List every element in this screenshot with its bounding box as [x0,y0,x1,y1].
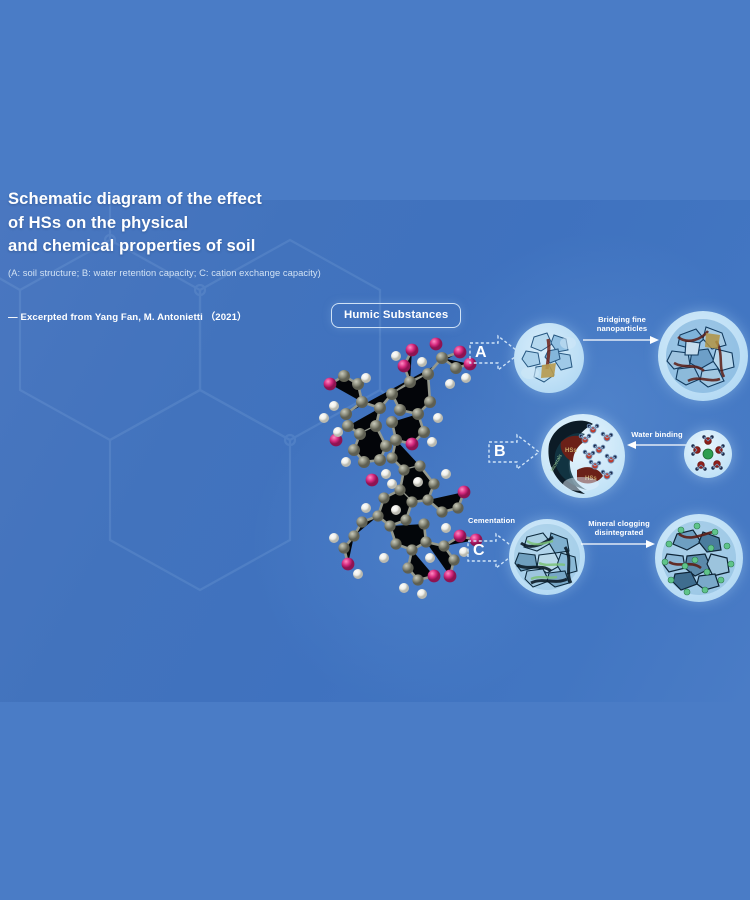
svg-text:HSs: HSs [565,448,577,454]
row-marker-a-letter: A [475,344,487,362]
attribution-line: — Excerpted from Yang Fan, M. Antonietti… [8,309,338,323]
arrow-left-icon [626,439,688,451]
caption-text-block: Schematic diagram of the effect of HSs o… [8,187,338,323]
connector-c-caption-line-2: disintegrated [580,528,658,537]
top-band [0,0,750,202]
hydrated-cation-bubble [684,430,732,478]
connector-b-caption-line-1: Water binding [626,430,688,439]
connector-a-caption-line-2: nanoparticles [582,324,662,333]
headline-line-2: of HSs on the physical [8,211,338,235]
screenshot-root: Schematic diagram of the effect of HSs o… [0,0,750,900]
row-marker-b-letter: B [494,443,506,461]
soil-particles-bubble [514,323,584,393]
connector-a-caption: Bridging fine nanoparticles [582,315,662,334]
subtitle-legend: (A: soil structure; B: water retention c… [8,267,338,279]
headline-line-3: and chemical properties of soil [8,234,338,258]
connector-c-caption-line-1: Mineral clogging [580,519,658,528]
disintegrated-minerals-bubble [655,514,743,602]
connector-b-caption: Water binding [626,430,688,439]
cemented-minerals-bubble [509,519,585,595]
connector-c-caption: Mineral clogging disintegrated [580,519,658,538]
connector-a: Bridging fine nanoparticles [582,315,662,346]
bottom-band [0,700,750,900]
connector-b: Water binding [626,430,688,451]
cementation-label: Cementation [468,516,515,525]
arrow-right-icon [582,334,660,346]
connector-a-caption-line-1: Bridging fine [582,315,662,324]
humic-substances-label: Humic Substances [331,303,461,328]
soil-aggregate-bubble [658,311,748,401]
page-title: Schematic diagram of the effect of HSs o… [8,187,338,258]
arrow-right-icon [580,538,656,550]
headline-line-1: Schematic diagram of the effect [8,187,338,211]
row-marker-b: B [487,432,541,472]
connector-c: Mineral clogging disintegrated [580,519,658,550]
humic-water-bubble: HSs HSs Minerals [541,414,625,498]
row-marker-c-letter: C [473,542,485,560]
